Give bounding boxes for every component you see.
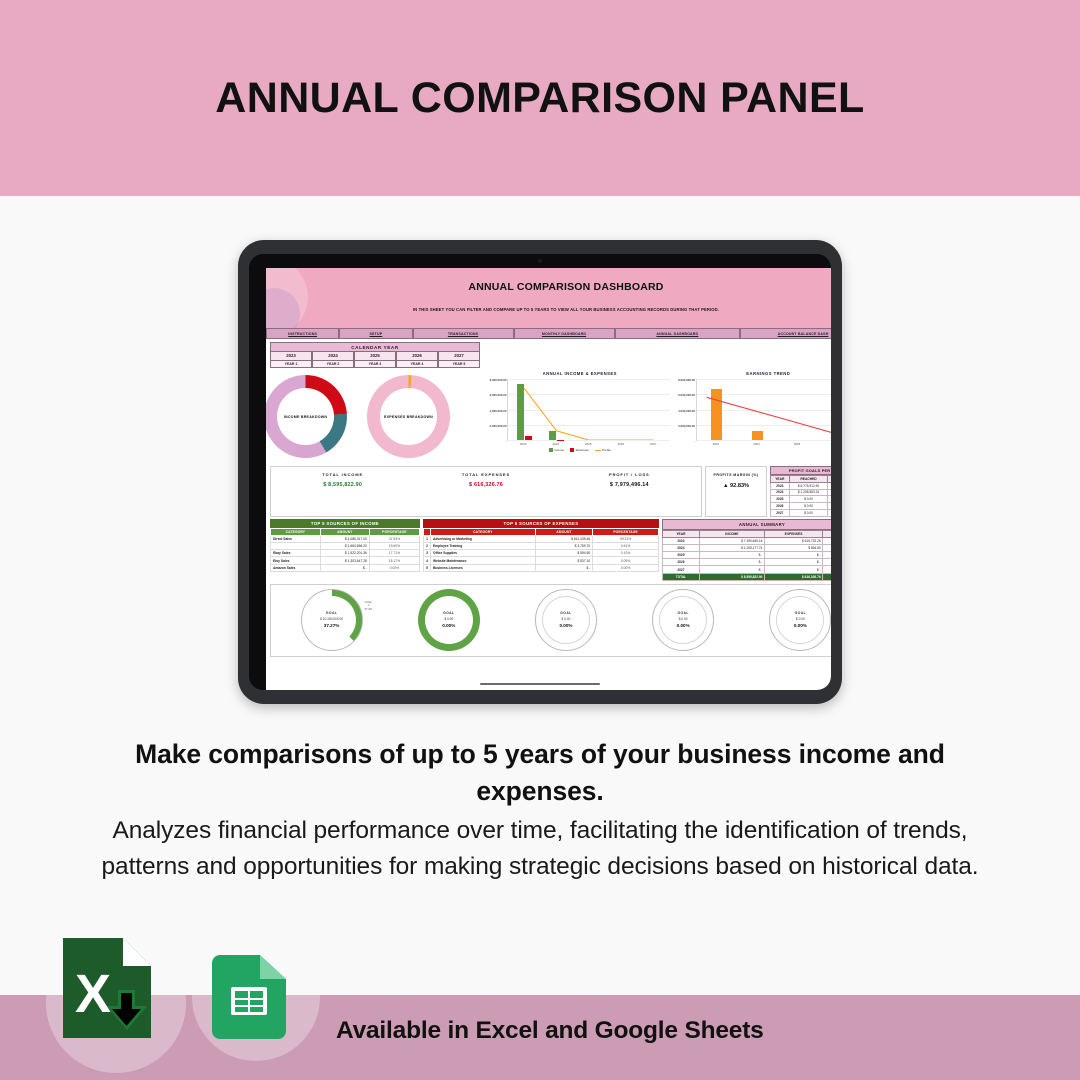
total-income-label: TOTAL INCOME bbox=[271, 472, 414, 477]
expense-rank: 4 bbox=[424, 557, 431, 564]
ytick-4m-a: 4,000,000.00 bbox=[490, 409, 507, 413]
ytick-6m-b: 6,000,000.00 bbox=[678, 393, 695, 397]
expense-pct: 0.09% bbox=[593, 557, 659, 564]
expense-rank: 1 bbox=[424, 535, 431, 542]
profits-margin-card: PROFITS MARGIN (%) ▲ 92.83% bbox=[705, 466, 767, 517]
ytick-2m-b: 2,000,000.00 bbox=[678, 424, 695, 428]
table-row: 2025$ -$ -$ - bbox=[663, 552, 832, 559]
calendar-label-year-2: YEAR 2 bbox=[312, 361, 354, 369]
description-block: Make comparisons of up to 5 years of you… bbox=[90, 736, 990, 886]
table-total-row: TOTAL$ 8,595,822.90$ 616,326.76$ 7,97 bbox=[663, 573, 832, 580]
plot-income-expenses: 8,000,000.00 6,000,000.00 4,000,000.00 2… bbox=[507, 379, 670, 441]
expenses-donut-center: EXPENSES BREAKDOWN bbox=[380, 388, 437, 445]
table-header-row: CATEGORY AMOUNT PORCENTAGE bbox=[424, 528, 659, 535]
table-row: 2026$ -$ -$ - bbox=[663, 559, 832, 566]
calendar-year-title: CALENDAR YEAR bbox=[270, 342, 480, 352]
expense-category: Office Supplies bbox=[431, 550, 536, 557]
profit-loss-cell: PROFIT / LOSS $ 7,979,496.14 bbox=[558, 472, 701, 509]
goal-reached: $ 0.00 bbox=[789, 509, 828, 516]
legend-label-profits: Profits bbox=[602, 448, 611, 452]
table-row: 1Advertising or Marketing$ 611,435.4699.… bbox=[424, 535, 659, 542]
expense-pct: 0.10% bbox=[593, 550, 659, 557]
col-income: INCOME bbox=[699, 530, 764, 537]
col-porcentage: PORCENTAGE bbox=[369, 528, 419, 535]
expense-amount: $ 611,435.46 bbox=[535, 535, 592, 542]
annual-summary-title: ANNUAL SUMMARY bbox=[662, 519, 831, 530]
col-profit: PROFIT bbox=[823, 530, 831, 537]
expenses-breakdown-donut-chart: EXPENSES BREAKDOWN bbox=[367, 375, 450, 458]
top-income-title: TOP 5 SOURCES OF INCOME bbox=[270, 519, 420, 528]
legend-swatch-profits bbox=[595, 450, 601, 451]
table-row: $ 1,684,656.2019.60% bbox=[271, 543, 420, 550]
expense-amount: $ 537.10 bbox=[535, 557, 592, 564]
chart-title-earnings-trend: EARNINGS TREND bbox=[676, 371, 832, 376]
goal-year: 2025 bbox=[771, 496, 790, 503]
calendar-year-2027[interactable]: 2027 bbox=[438, 352, 480, 361]
xaxis-earnings-trend: 2023 2024 2025 2026 bbox=[696, 441, 832, 446]
expense-rank: 3 bbox=[424, 550, 431, 557]
dashboard-subtitle: IN THIS SHEET YOU CAN FILTER AND COMPARE… bbox=[266, 293, 831, 312]
dashboard-title: ANNUAL COMPARISON DASHBOARD bbox=[266, 268, 831, 293]
annual-summary-table: ANNUAL SUMMARY YEAR INCOME EXPENSES PROF… bbox=[662, 519, 831, 581]
availability-text: Available in Excel and Google Sheets bbox=[336, 1017, 764, 1045]
calendar-label-year-1: YEAR 1 bbox=[270, 361, 312, 369]
goal-gauge-5-value: $ 0.00 bbox=[796, 617, 805, 621]
goal-gauge-3-label: GOAL bbox=[560, 611, 571, 615]
goal-year: 2026 bbox=[771, 503, 790, 510]
top-income-table: TOP 5 SOURCES OF INCOME CATEGORY AMOUNT … bbox=[270, 519, 420, 581]
goal-gauge-2-center: GOAL $ 0.00 0.00% bbox=[425, 596, 473, 644]
goal-gauge-1-value: $ 10,180,000.00 bbox=[320, 617, 343, 621]
calendar-year-2025[interactable]: 2025 bbox=[354, 352, 396, 361]
xtick-2024-a: 2024 bbox=[540, 441, 573, 446]
calendar-year-filter[interactable]: CALENDAR YEAR 2023 2024 2025 2026 2027 Y… bbox=[270, 342, 480, 368]
xtick-2023-b: 2023 bbox=[696, 441, 737, 446]
ytick-0-b: - bbox=[694, 439, 695, 443]
income-amount: $ 1,522,201.36 bbox=[320, 550, 369, 557]
goal-year: 2023 bbox=[771, 482, 790, 489]
table-row: 2023$ 7,390,645.16$ 615,732.26$ 6,77 bbox=[663, 537, 832, 544]
xtick-2025-a: 2025 bbox=[572, 441, 605, 446]
goal-gauges-row: GOAL $ 10,180,000.00 37.27% GOAL 1 37.3%… bbox=[270, 584, 831, 657]
xtick-2024-b: 2024 bbox=[736, 441, 777, 446]
table-row: 3Office Supplies$ 594.500.10% bbox=[424, 550, 659, 557]
col-category: CATEGORY bbox=[431, 528, 536, 535]
excel-icon: X bbox=[63, 938, 151, 1038]
profits-margin-value: ▲ 92.83% bbox=[706, 483, 766, 489]
profit-loss-label: PROFIT / LOSS bbox=[558, 472, 701, 477]
xtick-2026-b: 2026 bbox=[817, 441, 831, 446]
calendar-year-labels: YEAR 1 YEAR 2 YEAR 3 YEAR 4 YEAR 5 bbox=[270, 361, 480, 369]
col-porcentage: PORCENTAGE bbox=[593, 528, 659, 535]
ytick-2m-a: 2,000,000.00 bbox=[490, 424, 507, 428]
table-row: Etsy Sales$ 1,303,647.2815.17% bbox=[271, 557, 420, 564]
col-reached: REACHED bbox=[789, 476, 828, 483]
tablet-bezel: ANNUAL COMPARISON DASHBOARD IN THIS SHEE… bbox=[249, 254, 831, 690]
header-band: ANNUAL COMPARISON PANEL bbox=[0, 0, 1080, 196]
summary-total-label: TOTAL bbox=[663, 573, 700, 580]
profit-goals-table: PROFIT GOALS PER YEAR YEAR REACHED REMAI… bbox=[770, 466, 831, 517]
goal-gauge-3: GOAL $ 0.00 0.00% bbox=[535, 589, 597, 651]
col-amount: AMOUNT bbox=[535, 528, 592, 535]
dashboard-header: ANNUAL COMPARISON DASHBOARD IN THIS SHEE… bbox=[266, 268, 831, 328]
expense-pct: 0.00% bbox=[593, 564, 659, 571]
trendline-series bbox=[697, 379, 832, 440]
summary-expenses: $ - bbox=[764, 559, 822, 566]
dashboard-body: CALENDAR YEAR 2023 2024 2025 2026 2027 Y… bbox=[266, 339, 831, 657]
calendar-label-year-4: YEAR 4 bbox=[396, 361, 438, 369]
goal-gauge-1-center: GOAL $ 10,180,000.00 37.27% bbox=[308, 596, 356, 644]
legend-label-expenses: Expenses bbox=[576, 448, 589, 452]
goal-gauge-2: GOAL $ 0.00 0.00% bbox=[418, 589, 480, 651]
goal-gauge-4-center: GOAL $ 0.00 0.00% bbox=[659, 596, 707, 644]
page-title: ANNUAL COMPARISON PANEL bbox=[215, 74, 864, 123]
tab-instructions[interactable]: INSTRUCTIONS bbox=[266, 328, 339, 339]
goal-remaining: $ 6,77 bbox=[828, 482, 831, 489]
col-category: CATEGORY bbox=[271, 528, 321, 535]
xtick-2027-a: 2027 bbox=[637, 441, 670, 446]
calendar-year-2026[interactable]: 2026 bbox=[396, 352, 438, 361]
table-row: 2027$ -$ -$ - bbox=[663, 566, 832, 573]
goal-year: 2024 bbox=[771, 489, 790, 496]
summary-total-expenses: $ 616,326.76 bbox=[764, 573, 822, 580]
tab-account-balance-dashboard[interactable]: ACCOUNT BALANCE DASH bbox=[740, 328, 831, 339]
goal-gauge-5-pct: 0.00% bbox=[794, 623, 807, 628]
table-row: 5Business Licenses$ -0.00% bbox=[424, 564, 659, 571]
ytick-8m-a: 8,000,000.00 bbox=[490, 378, 507, 382]
expense-amount: $ 3,759.70 bbox=[535, 543, 592, 550]
col-year: YEAR bbox=[663, 530, 700, 537]
goal-remaining: $ - bbox=[828, 509, 831, 516]
goal-remaining: $ - bbox=[828, 496, 831, 503]
table-row: Ebay Sales$ 1,522,201.3617.71% bbox=[271, 550, 420, 557]
income-pct: 15.17% bbox=[369, 557, 419, 564]
profit-loss-value: $ 7,979,496.14 bbox=[558, 482, 701, 488]
income-amount: $ 1,684,656.20 bbox=[320, 543, 369, 550]
legend-item-expenses: Expenses bbox=[570, 448, 589, 452]
description-headline: Make comparisons of up to 5 years of you… bbox=[90, 736, 990, 809]
income-pct: 47.53% bbox=[369, 535, 419, 542]
tab-monthly-dashboard[interactable]: MONTHLY DASHBOARD bbox=[514, 328, 615, 339]
svg-text:X: X bbox=[75, 964, 111, 1024]
goal-reached: $ 0.00 bbox=[789, 496, 828, 503]
goal-gauge-4-label: GOAL bbox=[677, 611, 688, 615]
sources-tables-row: TOP 5 SOURCES OF INCOME CATEGORY AMOUNT … bbox=[270, 519, 831, 581]
income-pct: 19.60% bbox=[369, 543, 419, 550]
tab-setup[interactable]: SETUP bbox=[339, 328, 412, 339]
col-remaining: REMAINING bbox=[828, 476, 831, 483]
income-category: Direct Sales bbox=[271, 535, 321, 542]
calendar-year-values[interactable]: 2023 2024 2025 2026 2027 bbox=[270, 352, 480, 361]
summary-expenses: $ 615,732.26 bbox=[764, 537, 822, 544]
expense-category: Business Licenses bbox=[431, 564, 536, 571]
col-expenses: EXPENSES bbox=[764, 530, 822, 537]
ytick-0-a: - bbox=[506, 439, 507, 443]
income-category: Amazon Sales bbox=[271, 564, 321, 571]
goal-gauge-4-pct: 0.00% bbox=[677, 623, 690, 628]
legend-item-profits: Profits bbox=[595, 448, 611, 452]
summary-income: $ - bbox=[699, 552, 764, 559]
legend-swatch-income bbox=[549, 448, 553, 452]
income-category: Etsy Sales bbox=[271, 557, 321, 564]
calendar-year-2023[interactable]: 2023 bbox=[270, 352, 312, 361]
income-donut-label: INCOME BREAKDOWN bbox=[284, 415, 328, 419]
table-header-row: YEAR INCOME EXPENSES PROFIT bbox=[663, 530, 832, 537]
summary-total-profit: $ 7,97 bbox=[823, 573, 831, 580]
top-expenses-grid: CATEGORY AMOUNT PORCENTAGE 1Advertising … bbox=[423, 528, 659, 572]
table-row: 2026$ 0.00$ - bbox=[771, 503, 832, 510]
col-year: YEAR bbox=[771, 476, 790, 483]
earnings-trend-chart: EARNINGS TREND 8,000,000.00 6,000,000.00… bbox=[674, 369, 832, 464]
table-header-row: CATEGORY AMOUNT PORCENTAGE bbox=[271, 528, 420, 535]
legend-income-expenses: Income Expenses Profits bbox=[487, 448, 673, 452]
summary-total-income: $ 8,595,822.90 bbox=[699, 573, 764, 580]
tablet-home-indicator bbox=[480, 683, 600, 686]
summary-year: 2025 bbox=[663, 552, 700, 559]
table-header-row: YEAR REACHED REMAINING bbox=[771, 476, 832, 483]
summary-year: 2026 bbox=[663, 559, 700, 566]
total-expenses-value: $ 616,326.76 bbox=[414, 482, 557, 488]
income-pct: 0.00% bbox=[369, 564, 419, 571]
goal-gauge-1-note: GOAL 1 37.3% bbox=[365, 601, 372, 611]
income-amount: $ 4,085,317.00 bbox=[320, 535, 369, 542]
summary-expenses: $ - bbox=[764, 566, 822, 573]
summary-expenses: $ 594.50 bbox=[764, 544, 822, 551]
ytick-4m-b: 4,000,000.00 bbox=[678, 409, 695, 413]
expense-pct: 0.61% bbox=[593, 543, 659, 550]
summary-year: 2024 bbox=[663, 544, 700, 551]
table-row: 2024$ 1,206,583.24$ 1,20 bbox=[771, 489, 832, 496]
col-amount: AMOUNT bbox=[320, 528, 369, 535]
annual-income-expenses-chart: ANNUAL INCOME & EXPENSES 8,000,000.00 6,… bbox=[485, 369, 674, 464]
income-category bbox=[271, 543, 321, 550]
totals-row: TOTAL INCOME $ 8,595,822.90 TOTAL EXPENS… bbox=[270, 466, 831, 517]
summary-profit: $ - bbox=[823, 566, 831, 573]
table-row: 4Website Maintenance$ 537.100.09% bbox=[424, 557, 659, 564]
goal-reached: $ 6,776,912.90 bbox=[789, 482, 828, 489]
total-income-cell: TOTAL INCOME $ 8,595,822.90 bbox=[271, 472, 414, 509]
legend-item-income: Income bbox=[549, 448, 564, 452]
profit-goals-title: PROFIT GOALS PER YEAR bbox=[770, 466, 831, 475]
expense-rank: 2 bbox=[424, 543, 431, 550]
description-body: Analyzes financial performance over time… bbox=[90, 813, 990, 886]
summary-income: $ - bbox=[699, 566, 764, 573]
expense-category: Website Maintenance bbox=[431, 557, 536, 564]
summary-year: 2023 bbox=[663, 537, 700, 544]
goal-gauge-1: GOAL $ 10,180,000.00 37.27% GOAL 1 37.3% bbox=[301, 589, 363, 651]
breakdown-donuts: INCOME BREAKDOWN EXPENSES BREAKDOWN bbox=[270, 369, 485, 464]
expense-amount: $ - bbox=[535, 564, 592, 571]
expense-pct: 99.21% bbox=[593, 535, 659, 542]
goal-gauge-1-pct: 37.27% bbox=[324, 623, 340, 628]
xtick-2023-a: 2023 bbox=[507, 441, 540, 446]
tablet-device-mockup: ANNUAL COMPARISON DASHBOARD IN THIS SHEE… bbox=[238, 240, 842, 704]
expense-rank: 5 bbox=[424, 564, 431, 571]
charts-area: ANNUAL INCOME & EXPENSES 8,000,000.00 6,… bbox=[485, 369, 831, 464]
ytick-6m-a: 6,000,000.00 bbox=[490, 393, 507, 397]
goal-remaining: $ 1,20 bbox=[828, 489, 831, 496]
xaxis-income-expenses: 2023 2024 2025 2026 2027 bbox=[507, 441, 670, 446]
goal-gauge-3-pct: 0.00% bbox=[559, 623, 572, 628]
top-income-grid: CATEGORY AMOUNT PORCENTAGE Direct Sales$… bbox=[270, 528, 420, 572]
google-sheets-icon bbox=[212, 955, 286, 1039]
tab-annual-dashboard[interactable]: ANNUAL DASHBOARD bbox=[615, 328, 741, 339]
goal-reached: $ 1,206,583.24 bbox=[789, 489, 828, 496]
summary-profit: $ - bbox=[823, 552, 831, 559]
summary-year: 2027 bbox=[663, 566, 700, 573]
goal-gauge-2-value: $ 0.00 bbox=[444, 617, 453, 621]
total-expenses-cell: TOTAL EXPENSES $ 616,326.76 bbox=[414, 472, 557, 509]
table-row: 2Employee Training$ 3,759.700.61% bbox=[424, 543, 659, 550]
legend-label-income: Income bbox=[554, 448, 564, 452]
plot-earnings-trend: 8,000,000.00 6,000,000.00 4,000,000.00 2… bbox=[696, 379, 832, 441]
table-row: 2027$ 0.00$ - bbox=[771, 509, 832, 516]
summary-profit: $ 6,77 bbox=[823, 537, 831, 544]
donuts-and-charts-row: INCOME BREAKDOWN EXPENSES BREAKDOWN bbox=[270, 369, 831, 464]
xtick-2026-a: 2026 bbox=[605, 441, 638, 446]
profits-margin-label: PROFITS MARGIN (%) bbox=[706, 473, 766, 477]
summary-expenses: $ - bbox=[764, 552, 822, 559]
tab-transactions[interactable]: TRANSACTIONS bbox=[413, 328, 514, 339]
summary-profit: $ 1,20 bbox=[823, 544, 831, 551]
sheet-tab-bar[interactable]: INSTRUCTIONS SETUP TRANSACTIONS MONTHLY … bbox=[266, 328, 831, 339]
income-amount: $ 1,303,647.28 bbox=[320, 557, 369, 564]
table-row: 2023$ 6,776,912.90$ 6,77 bbox=[771, 482, 832, 489]
profit-goals-grid: YEAR REACHED REMAINING 2023$ 6,776,912.9… bbox=[770, 475, 831, 517]
income-pct: 17.71% bbox=[369, 550, 419, 557]
table-row: Amazon Sales$ -0.00% bbox=[271, 564, 420, 571]
summary-profit: $ - bbox=[823, 559, 831, 566]
total-expenses-label: TOTAL EXPENSES bbox=[414, 472, 557, 477]
totals-panel: TOTAL INCOME $ 8,595,822.90 TOTAL EXPENS… bbox=[270, 466, 702, 517]
calendar-label-year-5: YEAR 5 bbox=[438, 361, 480, 369]
camera-icon bbox=[538, 259, 542, 263]
income-donut-center: INCOME BREAKDOWN bbox=[277, 388, 334, 445]
profit-line-series bbox=[508, 379, 670, 440]
income-amount: $ - bbox=[320, 564, 369, 571]
income-category: Ebay Sales bbox=[271, 550, 321, 557]
table-row: Direct Sales$ 4,085,317.0047.53% bbox=[271, 535, 420, 542]
goal-gauge-4-value: $ 0.00 bbox=[679, 617, 688, 621]
goal-gauge-5-label: GOAL bbox=[795, 611, 806, 615]
table-row: 2025$ 0.00$ - bbox=[771, 496, 832, 503]
calendar-year-2024[interactable]: 2024 bbox=[312, 352, 354, 361]
goal-gauge-4: GOAL $ 0.00 0.00% bbox=[652, 589, 714, 651]
ytick-8m-b: 8,000,000.00 bbox=[678, 378, 695, 382]
summary-income: $ 7,390,645.16 bbox=[699, 537, 764, 544]
col-rank bbox=[424, 528, 431, 535]
top-expenses-table: TOP 5 SOURCES OF EXPENSES CATEGORY AMOUN… bbox=[423, 519, 659, 581]
summary-income: $ 1,205,177.74 bbox=[699, 544, 764, 551]
legend-swatch-expenses bbox=[570, 448, 574, 452]
expense-category: Advertising or Marketing bbox=[431, 535, 536, 542]
annual-summary-grid: YEAR INCOME EXPENSES PROFIT 2023$ 7,390,… bbox=[662, 530, 831, 581]
calendar-label-year-3: YEAR 3 bbox=[354, 361, 396, 369]
income-breakdown-donut-chart: INCOME BREAKDOWN bbox=[266, 375, 347, 458]
expenses-donut-label: EXPENSES BREAKDOWN bbox=[384, 415, 433, 419]
table-row: 2024$ 1,205,177.74$ 594.50$ 1,20 bbox=[663, 544, 832, 551]
goal-gauge-3-value: $ 0.00 bbox=[562, 617, 571, 621]
expense-amount: $ 594.50 bbox=[535, 550, 592, 557]
goal-gauge-5-center: GOAL $ 0.00 0.00% bbox=[776, 596, 824, 644]
goal-year: 2027 bbox=[771, 509, 790, 516]
xtick-2025-b: 2025 bbox=[777, 441, 818, 446]
goal-gauge-3-center: GOAL $ 0.00 0.00% bbox=[542, 596, 590, 644]
goal-reached: $ 0.00 bbox=[789, 503, 828, 510]
goal-gauge-5: GOAL $ 0.00 0.00% bbox=[769, 589, 831, 651]
goal-gauge-2-label: GOAL bbox=[443, 611, 454, 615]
goal-gauge-2-pct: 0.00% bbox=[442, 623, 455, 628]
summary-income: $ - bbox=[699, 559, 764, 566]
goal-remaining: $ - bbox=[828, 503, 831, 510]
spreadsheet-screen: ANNUAL COMPARISON DASHBOARD IN THIS SHEE… bbox=[266, 268, 831, 690]
top-expenses-title: TOP 5 SOURCES OF EXPENSES bbox=[423, 519, 659, 528]
goal-gauge-1-label: GOAL bbox=[326, 611, 337, 615]
expense-category: Employee Training bbox=[431, 543, 536, 550]
chart-title-income-expenses: ANNUAL INCOME & EXPENSES bbox=[487, 371, 673, 376]
total-income-value: $ 8,595,822.90 bbox=[271, 482, 414, 488]
